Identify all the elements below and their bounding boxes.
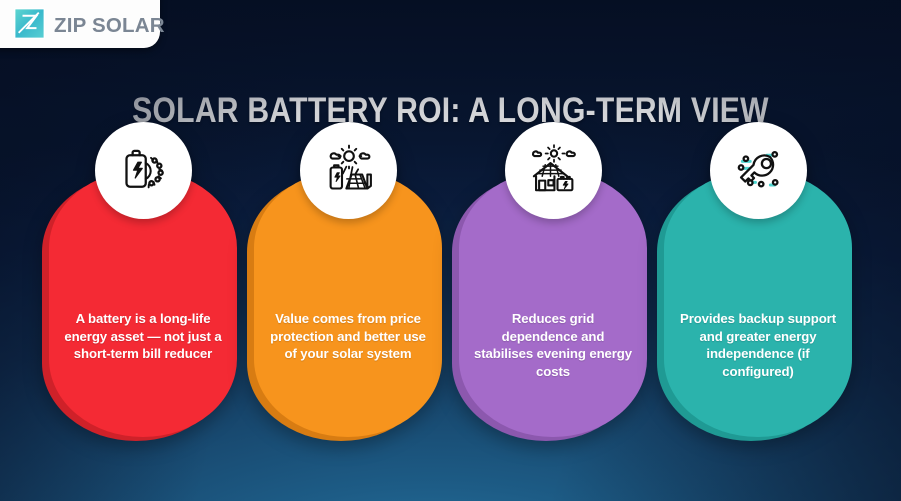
benefit-card-1[interactable]: A battery is a long-life energy asset — … bbox=[49, 170, 237, 437]
brand-logo-badge: ZIP SOLAR bbox=[0, 0, 160, 48]
infographic-canvas: ZIP SOLAR SOLAR BATTERY ROI: A LONG-TERM… bbox=[0, 0, 901, 501]
zip-solar-z-mark-icon bbox=[14, 8, 45, 39]
benefit-card-3[interactable]: Reduces grid dependence and stabilises e… bbox=[459, 170, 647, 437]
benefit-card-2[interactable]: Value comes from price protection and be… bbox=[254, 170, 442, 437]
benefit-card-text-1: A battery is a long-life energy asset — … bbox=[63, 310, 223, 363]
benefit-icon-badge-1 bbox=[95, 122, 192, 219]
benefit-card-4[interactable]: Provides backup support and greater ener… bbox=[664, 170, 852, 437]
benefit-icon-badge-3 bbox=[505, 122, 602, 219]
page-title: SOLAR BATTERY ROI: A LONG-TERM VIEW bbox=[63, 93, 838, 128]
benefit-card-text-4: Provides backup support and greater ener… bbox=[678, 310, 838, 380]
solar-house-battery-icon bbox=[526, 143, 582, 199]
benefit-card-text-3: Reduces grid dependence and stabilises e… bbox=[473, 310, 633, 380]
brand-name-label: ZIP SOLAR bbox=[54, 16, 165, 40]
benefit-card-row: A battery is a long-life energy asset — … bbox=[0, 170, 901, 445]
benefit-card-text-2: Value comes from price protection and be… bbox=[268, 310, 428, 363]
benefit-icon-badge-2 bbox=[300, 122, 397, 219]
battery-bolt-sun-icon bbox=[116, 143, 172, 199]
solar-panel-battery-sun-icon bbox=[321, 143, 377, 199]
key-circuit-icon bbox=[731, 143, 787, 199]
benefit-icon-badge-4 bbox=[710, 122, 807, 219]
